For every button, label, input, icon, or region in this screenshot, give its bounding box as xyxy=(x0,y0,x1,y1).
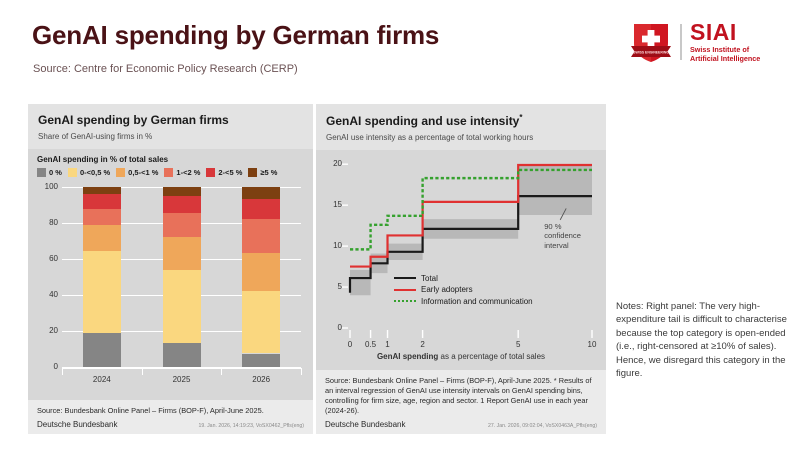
legend-swatch xyxy=(206,168,215,177)
annotation-line-2: interval xyxy=(544,241,598,251)
x-axis-tick-label: 10 xyxy=(577,340,607,349)
legend-item[interactable]: 1-<2 % xyxy=(164,168,200,177)
y-axis-tick-label: 100 xyxy=(36,182,58,191)
left-panel-header: GenAI spending by German firms Share of … xyxy=(28,104,313,149)
legend-swatch xyxy=(116,168,125,177)
x-axis-title-bold: GenAI spending xyxy=(377,352,438,361)
logo-text: SIAI Swiss Institute of Artificial Intel… xyxy=(690,21,760,63)
x-axis-title-rest: as a percentage of total sales xyxy=(438,352,545,361)
legend-item[interactable]: 0 % xyxy=(37,168,62,177)
x-axis-title: GenAI spending as a percentage of total … xyxy=(324,352,598,361)
bar-segment[interactable] xyxy=(163,213,201,236)
bar-segment[interactable] xyxy=(83,251,121,333)
right-panel-header: GenAI spending and use intensity* GenAI … xyxy=(316,104,606,150)
bar-segment[interactable] xyxy=(163,196,201,213)
y-axis-tick-label: 10 xyxy=(320,241,342,250)
legend-item[interactable]: 0-<0,5 % xyxy=(68,168,110,177)
legend-label: Early adopters xyxy=(421,285,473,294)
bar-segment[interactable] xyxy=(242,187,280,199)
stacked-bar[interactable] xyxy=(242,187,280,367)
legend-label: 0-<0,5 % xyxy=(80,168,110,177)
bar-segment[interactable] xyxy=(83,187,121,194)
legend-item[interactable]: Information and communication xyxy=(394,297,533,306)
bar-segment[interactable] xyxy=(163,270,201,343)
bar-segment[interactable] xyxy=(83,333,121,367)
x-axis-tick-label: 5 xyxy=(503,340,533,349)
y-axis-tick-label: 80 xyxy=(36,218,58,227)
svg-text:SWISS ENGINEERING: SWISS ENGINEERING xyxy=(633,51,669,55)
y-axis-tick-label: 0 xyxy=(320,323,342,332)
left-footer-bank: Deutsche Bundesbank xyxy=(37,420,118,429)
x-axis-tick-label: 2026 xyxy=(236,375,286,384)
y-axis-tick-label: 60 xyxy=(36,254,58,263)
x-axis-tick-label: 2024 xyxy=(77,375,127,384)
siai-logo: SWISS ENGINEERING SIAI Swiss Institute o… xyxy=(628,14,788,70)
left-panel-subtitle: Share of GenAI-using firms in % xyxy=(38,132,303,149)
y-axis-tick-label: 0 xyxy=(36,362,58,371)
legend-line-swatch xyxy=(394,300,416,302)
y-axis-tick-label: 20 xyxy=(320,159,342,168)
right-footer-source: Source: Bundesbank Online Panel – Firms … xyxy=(325,376,597,416)
left-footer-timestamp: 19. Jan. 2026, 14:19:23, VoSX0462_Pfls(e… xyxy=(198,423,304,429)
legend-label: 0,5-<1 % xyxy=(128,168,158,177)
x-axis-line xyxy=(62,367,301,369)
bar-segment[interactable] xyxy=(242,291,280,353)
logo-wordmark: SIAI xyxy=(690,21,760,44)
legend-item[interactable]: Total xyxy=(394,274,533,283)
right-footer-timestamp: 27. Jan. 2026, 09:02:04, VoSX0463A_Pfls(… xyxy=(488,423,597,429)
right-panel-title: GenAI spending and use intensity* xyxy=(326,113,596,128)
left-panel-title: GenAI spending by German firms xyxy=(38,113,303,127)
right-panel-footer: Source: Bundesbank Online Panel – Firms … xyxy=(316,370,606,434)
page-title: GenAI spending by German firms xyxy=(32,20,439,51)
legend-label: 0 % xyxy=(49,168,62,177)
legend-swatch xyxy=(248,168,257,177)
header: GenAI spending by German firms Source: C… xyxy=(0,0,800,92)
y-axis-tick-label: 15 xyxy=(320,200,342,209)
bar-segment[interactable] xyxy=(83,194,121,209)
logo-tagline-line1: Swiss Institute of xyxy=(690,45,749,54)
y-axis-tick-label: 5 xyxy=(320,282,342,291)
right-chart-legend: TotalEarly adoptersInformation and commu… xyxy=(394,274,533,309)
right-panel-title-marker: * xyxy=(519,113,522,122)
right-panel: GenAI spending and use intensity* GenAI … xyxy=(316,104,606,434)
legend-swatch xyxy=(164,168,173,177)
legend-item[interactable]: 2-<5 % xyxy=(206,168,242,177)
legend-item[interactable]: ≥5 % xyxy=(248,168,277,177)
y-axis-tick-label: 20 xyxy=(36,326,58,335)
legend-label: Total xyxy=(421,274,438,283)
legend-label: 1-<2 % xyxy=(176,168,200,177)
y-axis-tick-label: 40 xyxy=(36,290,58,299)
x-axis-tick xyxy=(221,368,222,375)
x-axis-tick xyxy=(62,368,63,375)
legend-item[interactable]: 0,5-<1 % xyxy=(116,168,158,177)
left-footer-source: Source: Bundesbank Online Panel – Firms … xyxy=(37,406,304,416)
right-footer-bank: Deutsche Bundesbank xyxy=(325,420,406,429)
bar-segment[interactable] xyxy=(163,187,201,196)
left-panel: GenAI spending by German firms Share of … xyxy=(28,104,313,434)
right-panel-subtitle: GenAI use intensity as a percentage of t… xyxy=(326,133,596,150)
x-axis-tick xyxy=(301,368,302,375)
legend-line-swatch xyxy=(394,289,416,291)
right-panel-title-text: GenAI spending and use intensity xyxy=(326,114,519,128)
swiss-shield-icon: SWISS ENGINEERING xyxy=(628,19,674,65)
notes-text: Notes: Right panel: The very high-expend… xyxy=(616,300,796,381)
bar-segment[interactable] xyxy=(163,237,201,270)
confidence-interval-annotation: 90 % confidenceinterval xyxy=(544,222,598,252)
right-step-chart: 0510152090 % confidenceinterval00.512510… xyxy=(324,150,598,365)
legend-label: 2-<5 % xyxy=(218,168,242,177)
logo-tagline: Swiss Institute of Artificial Intelligen… xyxy=(690,46,760,63)
bar-segment[interactable] xyxy=(242,199,280,220)
left-stacked-bar-chart: 100806040200202420252026 xyxy=(36,181,305,396)
legend-swatch xyxy=(68,168,77,177)
legend-items: 0 %0-<0,5 %0,5-<1 %1-<2 %2-<5 %≥5 % xyxy=(37,168,304,177)
stacked-bar[interactable] xyxy=(163,187,201,367)
logo-tagline-line2: Artificial Intelligence xyxy=(690,54,760,63)
left-panel-footer: Source: Bundesbank Online Panel – Firms … xyxy=(28,400,313,434)
x-axis-tick-label: 2025 xyxy=(157,375,207,384)
x-axis-tick-label: 2 xyxy=(408,340,438,349)
slide-root: GenAI spending by German firms Source: C… xyxy=(0,0,800,450)
legend-item[interactable]: Early adopters xyxy=(394,285,533,294)
stacked-bar[interactable] xyxy=(83,187,121,367)
bar-segment[interactable] xyxy=(242,219,280,253)
step-chart-svg xyxy=(324,150,598,365)
bar-segment[interactable] xyxy=(242,253,280,291)
bar-segment[interactable] xyxy=(242,354,280,368)
x-axis-tick-label: 1 xyxy=(373,340,403,349)
bar-segment[interactable] xyxy=(163,343,201,367)
bar-segment[interactable] xyxy=(83,209,121,225)
legend-label: ≥5 % xyxy=(260,168,277,177)
header-source: Source: Centre for Economic Policy Resea… xyxy=(33,63,298,75)
annotation-line-1: 90 % confidence xyxy=(544,222,598,242)
legend-caption: GenAI spending in % of total sales xyxy=(37,155,304,164)
logo-divider xyxy=(680,24,682,60)
left-chart-legend: GenAI spending in % of total sales 0 %0-… xyxy=(28,149,313,179)
x-axis-tick xyxy=(142,368,143,375)
legend-label: Information and communication xyxy=(421,297,533,306)
legend-line-swatch xyxy=(394,277,416,279)
legend-swatch xyxy=(37,168,46,177)
bar-segment[interactable] xyxy=(83,225,121,251)
